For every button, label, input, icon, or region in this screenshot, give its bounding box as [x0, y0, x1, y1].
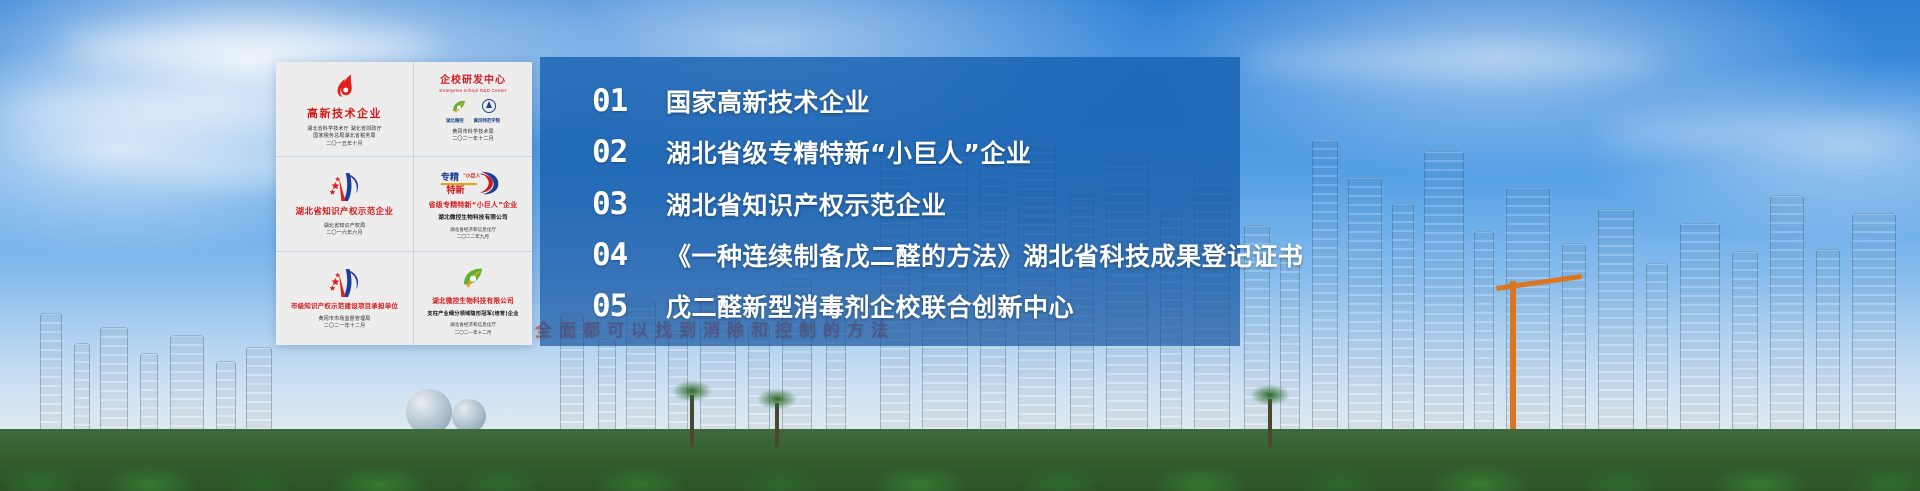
university-emblem-icon [481, 97, 497, 117]
honors-list-panel: 01 国家高新技术企业 02 湖北省级专精特新“小巨人”企业 03 湖北省知识产… [540, 57, 1240, 346]
list-item-number: 03 [592, 186, 640, 222]
list-item-number: 01 [592, 83, 640, 119]
list-item-label: 国家高新技术企业 [666, 83, 870, 119]
list-item[interactable]: 02 湖北省级专精特新“小巨人”企业 [540, 134, 1240, 170]
certificate-grid: 高新技术企业 湖北省科学技术厅 湖北省财政厅 国家税务总局湖北省税务局 二〇一五… [276, 62, 532, 345]
certificate-title: 高新技术企业 [307, 107, 382, 120]
certificate-issuer: 黄冈市科学技术局 二〇二一年十二月 [452, 129, 494, 144]
list-item[interactable]: 01 国家高新技术企业 [540, 83, 1240, 119]
zjtx-logo-icon: 专精 "小巨人" 特新 [439, 168, 507, 198]
cloud-streak [1600, 120, 1920, 146]
list-item-label: 湖北省级专精特新“小巨人”企业 [666, 134, 1031, 170]
list-item[interactable]: 04 《一种连续制备戊二醛的方法》湖北省科技成果登记证书 [540, 237, 1240, 273]
svg-text:"小巨人": "小巨人" [463, 172, 483, 179]
certificate-issuer: 湖北省科学技术厅 湖北省财政厅 国家税务总局湖北省税务局 二〇一五年十月 [307, 126, 382, 149]
certificate-title: 湖北微控生物科技有限公司 [432, 298, 514, 306]
ip-star-logo-icon [328, 170, 362, 204]
cloud-streak [0, 96, 300, 122]
list-item-number: 02 [592, 134, 640, 170]
list-item[interactable]: 05 戊二醛新型消毒剂企校联合创新中心 [540, 288, 1240, 324]
certificate-card[interactable]: 湖北微控生物科技有限公司 支柱产业细分领域隐形冠军(培育)企业 湖北省经济和信息… [413, 251, 532, 345]
svg-text:专精: 专精 [441, 171, 459, 183]
certificate-card[interactable]: 湖北省知识产权示范企业 湖北省知识产权局 二〇一六年六月 [276, 156, 413, 250]
certificate-logo-row [449, 97, 497, 117]
certificate-issuer: 湖北省知识产权局 二〇一六年六月 [324, 223, 366, 238]
certificate-title: 湖北省知识产权示范企业 [296, 207, 394, 217]
certificate-badge-labels: 湖北微控 黄冈师范学院 [446, 118, 500, 124]
ip-star-logo-icon [328, 266, 362, 300]
cloud-streak [1240, 46, 1660, 76]
certificate-title: 省级专精特新“小巨人”企业 [429, 201, 518, 209]
certificate-issuer: 黄冈市市场监督管理局 二〇二一年十二月 [318, 316, 370, 331]
certificate-card[interactable]: 企校研发中心 Enterprise school R&D Center 湖北微控… [413, 62, 532, 156]
list-item[interactable]: 03 湖北省知识产权示范企业 [540, 186, 1240, 222]
list-item-number: 04 [592, 237, 640, 273]
certificate-card[interactable]: 高新技术企业 湖北省科学技术厅 湖北省财政厅 国家税务总局湖北省税务局 二〇一五… [276, 62, 413, 156]
list-item-label: 《一种连续制备戊二醛的方法》湖北省科技成果登记证书 [666, 237, 1304, 273]
flame-logo-icon [330, 70, 360, 104]
certificate-issuer: 湖北省经济和信息化厅 二〇二一年十二月 [450, 321, 496, 336]
green-leaf-logo-icon [459, 261, 487, 295]
svg-text:特新: 特新 [446, 184, 464, 196]
certificate-company: 支柱产业细分领域隐形冠军(培育)企业 [427, 311, 518, 319]
certificate-company: 湖北微控生物科技有限公司 [438, 214, 508, 222]
certificate-card[interactable]: 专精 "小巨人" 特新 省级专精特新“小巨人”企业 湖北微控生物科技有限公司 湖… [413, 156, 532, 250]
cloud-streak [60, 30, 440, 64]
list-item-label: 戊二醛新型消毒剂企校联合创新中心 [666, 288, 1074, 324]
green-leaf-logo-icon [449, 97, 469, 117]
certificate-subtitle-en: Enterprise school R&D Center [439, 88, 506, 93]
certificate-title: 企校研发中心 [440, 75, 506, 87]
certificate-card[interactable]: 市级知识产权示范建设项目承担单位 黄冈市市场监督管理局 二〇二一年十二月 [276, 251, 413, 345]
list-item-number: 05 [592, 288, 640, 324]
list-item-label: 湖北省知识产权示范企业 [666, 186, 947, 222]
hero-banner: 全面都可以找到消除和控制的方法 高新技术企业 湖北省科学技术厅 湖北省财政厅 国… [0, 0, 1920, 491]
certificate-issuer: 湖北省经济和信息化厅 二〇二二年九月 [450, 226, 496, 241]
certificate-title: 市级知识产权示范建设项目承担单位 [291, 303, 398, 311]
